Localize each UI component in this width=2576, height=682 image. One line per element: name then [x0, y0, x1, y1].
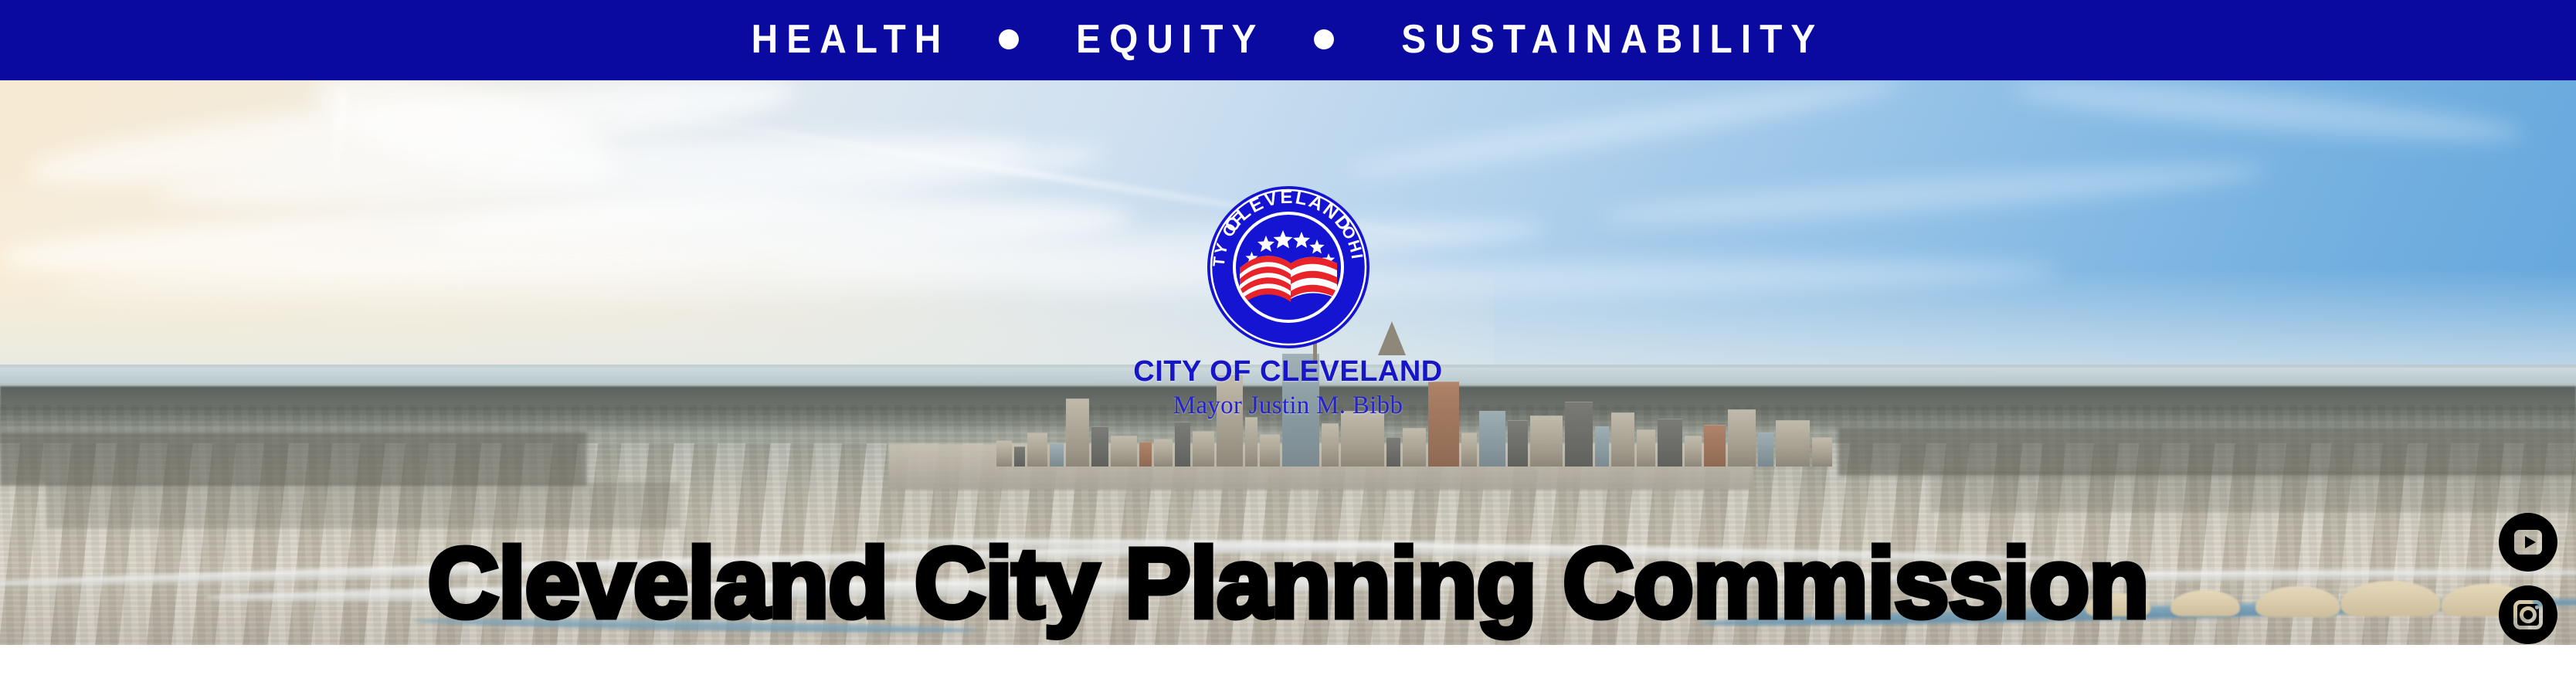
building [1091, 426, 1108, 467]
building [1812, 437, 1832, 467]
building [1322, 423, 1339, 467]
hero-photo: CLEVELAND CITY OF OHIO [0, 80, 2576, 645]
youtube-icon[interactable] [2499, 513, 2557, 572]
building [1260, 434, 1280, 467]
instagram-icon[interactable] [2499, 585, 2557, 644]
building [1027, 433, 1047, 467]
building [1637, 429, 1655, 467]
neighborhood-mass [46, 482, 680, 528]
building [1461, 433, 1477, 467]
city-logo-block[interactable]: CLEVELAND CITY OF OHIO [0, 183, 2576, 421]
neighborhood-mass [1931, 470, 2576, 512]
tagline-word-health: HEALTH [743, 19, 950, 59]
building [1685, 436, 1702, 467]
building [1658, 419, 1682, 467]
social-links [2499, 513, 2559, 645]
tagline-banner-inner: HEALTH EQUITY SUSTAINABILITY [734, 19, 1842, 59]
city-of-cleveland-seal-icon[interactable]: CLEVELAND CITY OF OHIO [1204, 183, 1373, 351]
neighborhood-mass [0, 432, 587, 486]
building [1386, 437, 1400, 467]
building [1014, 446, 1025, 467]
building [996, 440, 1012, 467]
neighborhood-mass [1838, 428, 2576, 476]
building [1776, 420, 1810, 467]
tagline-word-equity: EQUITY [1067, 19, 1264, 59]
building [1758, 433, 1773, 467]
bottom-white-strip [0, 645, 2576, 682]
building [1530, 416, 1563, 467]
tagline-separator-dot-1 [999, 29, 1019, 49]
logo-subtitle: Mayor Justin M. Bibb [0, 392, 2576, 421]
page-root: HEALTH EQUITY SUSTAINABILITY [0, 0, 2576, 682]
building [1245, 417, 1257, 467]
tagline-word-sustainability: SUSTAINABILITY [1393, 19, 1824, 59]
building [1154, 439, 1173, 467]
building [1403, 428, 1426, 467]
building [1193, 431, 1214, 467]
building [1050, 443, 1064, 467]
page-title: Cleveland City Planning Commission [0, 534, 2576, 633]
logo-title: CITY OF CLEVELAND [0, 356, 2576, 389]
tagline-banner: HEALTH EQUITY SUSTAINABILITY [0, 0, 2576, 80]
building [1111, 436, 1137, 467]
building [1139, 442, 1152, 467]
building [1595, 426, 1609, 467]
tagline-separator-dot-2 [1314, 29, 1334, 49]
building [1704, 425, 1726, 467]
building [1508, 420, 1528, 467]
building [1175, 422, 1190, 467]
